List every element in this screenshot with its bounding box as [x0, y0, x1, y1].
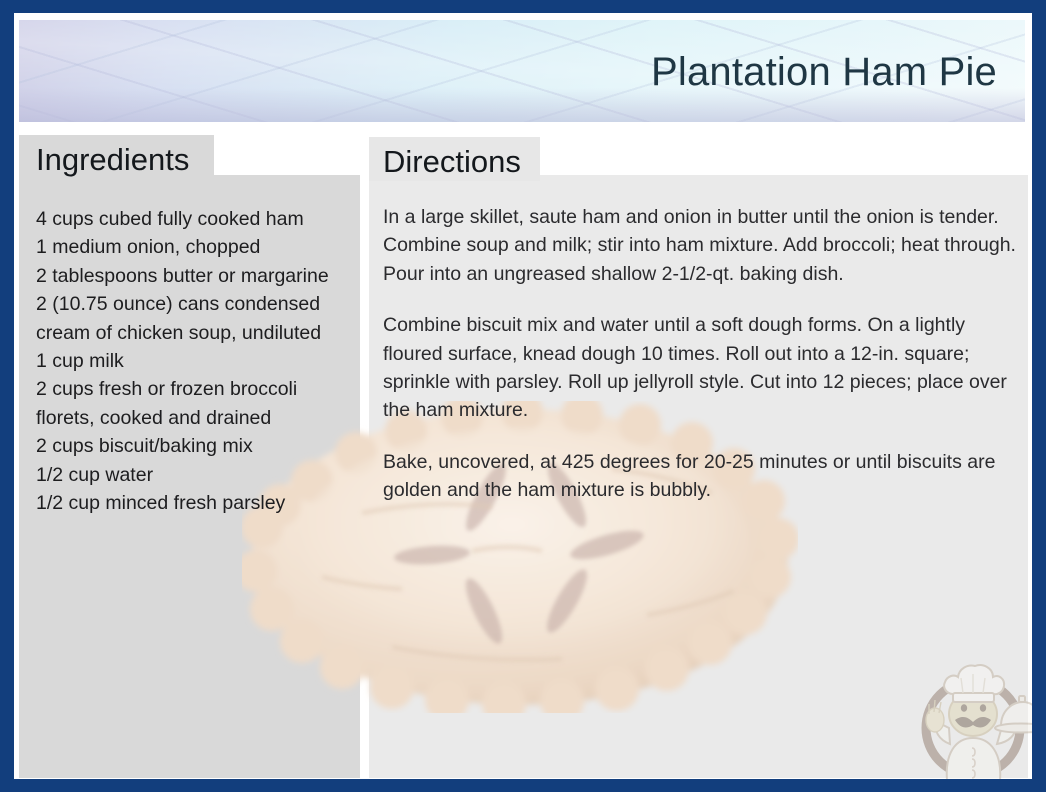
list-item: 1 medium onion, chopped	[36, 233, 362, 261]
recipe-page: Plantation Ham Pie	[14, 13, 1032, 779]
recipe-title: Plantation Ham Pie	[651, 50, 997, 94]
ingredients-heading: Ingredients	[36, 141, 189, 179]
recipe-card: Plantation Ham Pie	[0, 0, 1046, 792]
list-item: 2 tablespoons butter or margarine	[36, 262, 362, 290]
list-item: 2 (10.75 ounce) cans condensed	[36, 290, 362, 318]
directions-text: In a large skillet, saute ham and onion …	[383, 203, 1027, 505]
list-item: 1 cup milk	[36, 347, 362, 375]
directions-heading: Directions	[383, 143, 521, 181]
ingredients-list: 4 cups cubed fully cooked ham 1 medium o…	[36, 205, 362, 517]
list-item: 4 cups cubed fully cooked ham	[36, 205, 362, 233]
direction-paragraph: Combine biscuit mix and water until a so…	[383, 311, 1027, 425]
direction-paragraph: In a large skillet, saute ham and onion …	[383, 203, 1027, 288]
list-item: cream of chicken soup, undiluted	[36, 319, 362, 347]
list-item: 1/2 cup minced fresh parsley	[36, 489, 362, 517]
list-item: 2 cups biscuit/baking mix	[36, 432, 362, 460]
direction-paragraph: Bake, uncovered, at 425 degrees for 20-2…	[383, 448, 1027, 505]
header-banner: Plantation Ham Pie	[19, 20, 1025, 122]
list-item: 2 cups fresh or frozen broccoli	[36, 375, 362, 403]
list-item: florets, cooked and drained	[36, 404, 362, 432]
list-item: 1/2 cup water	[36, 461, 362, 489]
